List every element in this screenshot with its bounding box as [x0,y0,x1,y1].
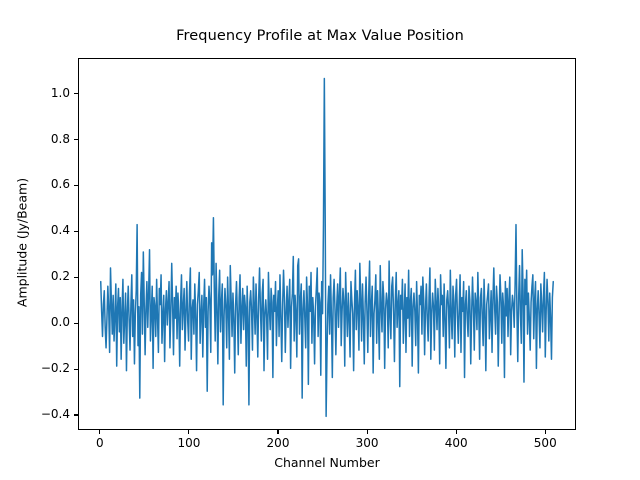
y-tick-label: 0.6 [0,177,70,191]
y-tick-mark [74,414,78,415]
x-tick-label: 0 [60,436,140,450]
amplitude-line [101,79,554,417]
x-tick-mark [99,430,100,434]
x-tick-mark [188,430,189,434]
x-tick-label: 200 [238,436,318,450]
x-tick-label: 100 [149,436,229,450]
y-tick-label: 0.8 [0,132,70,146]
x-tick-mark [545,430,546,434]
y-tick-mark [74,139,78,140]
x-axis-label: Channel Number [78,455,576,470]
x-tick-label: 400 [416,436,496,450]
x-tick-label: 500 [505,436,585,450]
matplotlib-figure: Frequency Profile at Max Value Position … [0,0,640,480]
y-tick-label: 1.0 [0,86,70,100]
y-tick-mark [74,277,78,278]
y-tick-label: 0.0 [0,315,70,329]
chart-title: Frequency Profile at Max Value Position [0,28,640,44]
x-tick-mark [456,430,457,434]
y-tick-mark [74,93,78,94]
x-tick-label: 300 [327,436,407,450]
x-tick-mark [367,430,368,434]
y-tick-label: 0.4 [0,223,70,237]
y-tick-mark [74,231,78,232]
y-tick-mark [74,369,78,370]
y-tick-mark [74,185,78,186]
y-axis-label: Amplitude (Jy/Beam) [15,123,30,363]
y-tick-mark [74,323,78,324]
x-tick-mark [277,430,278,434]
line-plot-svg [79,59,575,429]
y-tick-label: 0.2 [0,269,70,283]
y-tick-label: −0.4 [0,407,70,421]
y-tick-label: −0.2 [0,361,70,375]
plot-axes [78,58,576,430]
